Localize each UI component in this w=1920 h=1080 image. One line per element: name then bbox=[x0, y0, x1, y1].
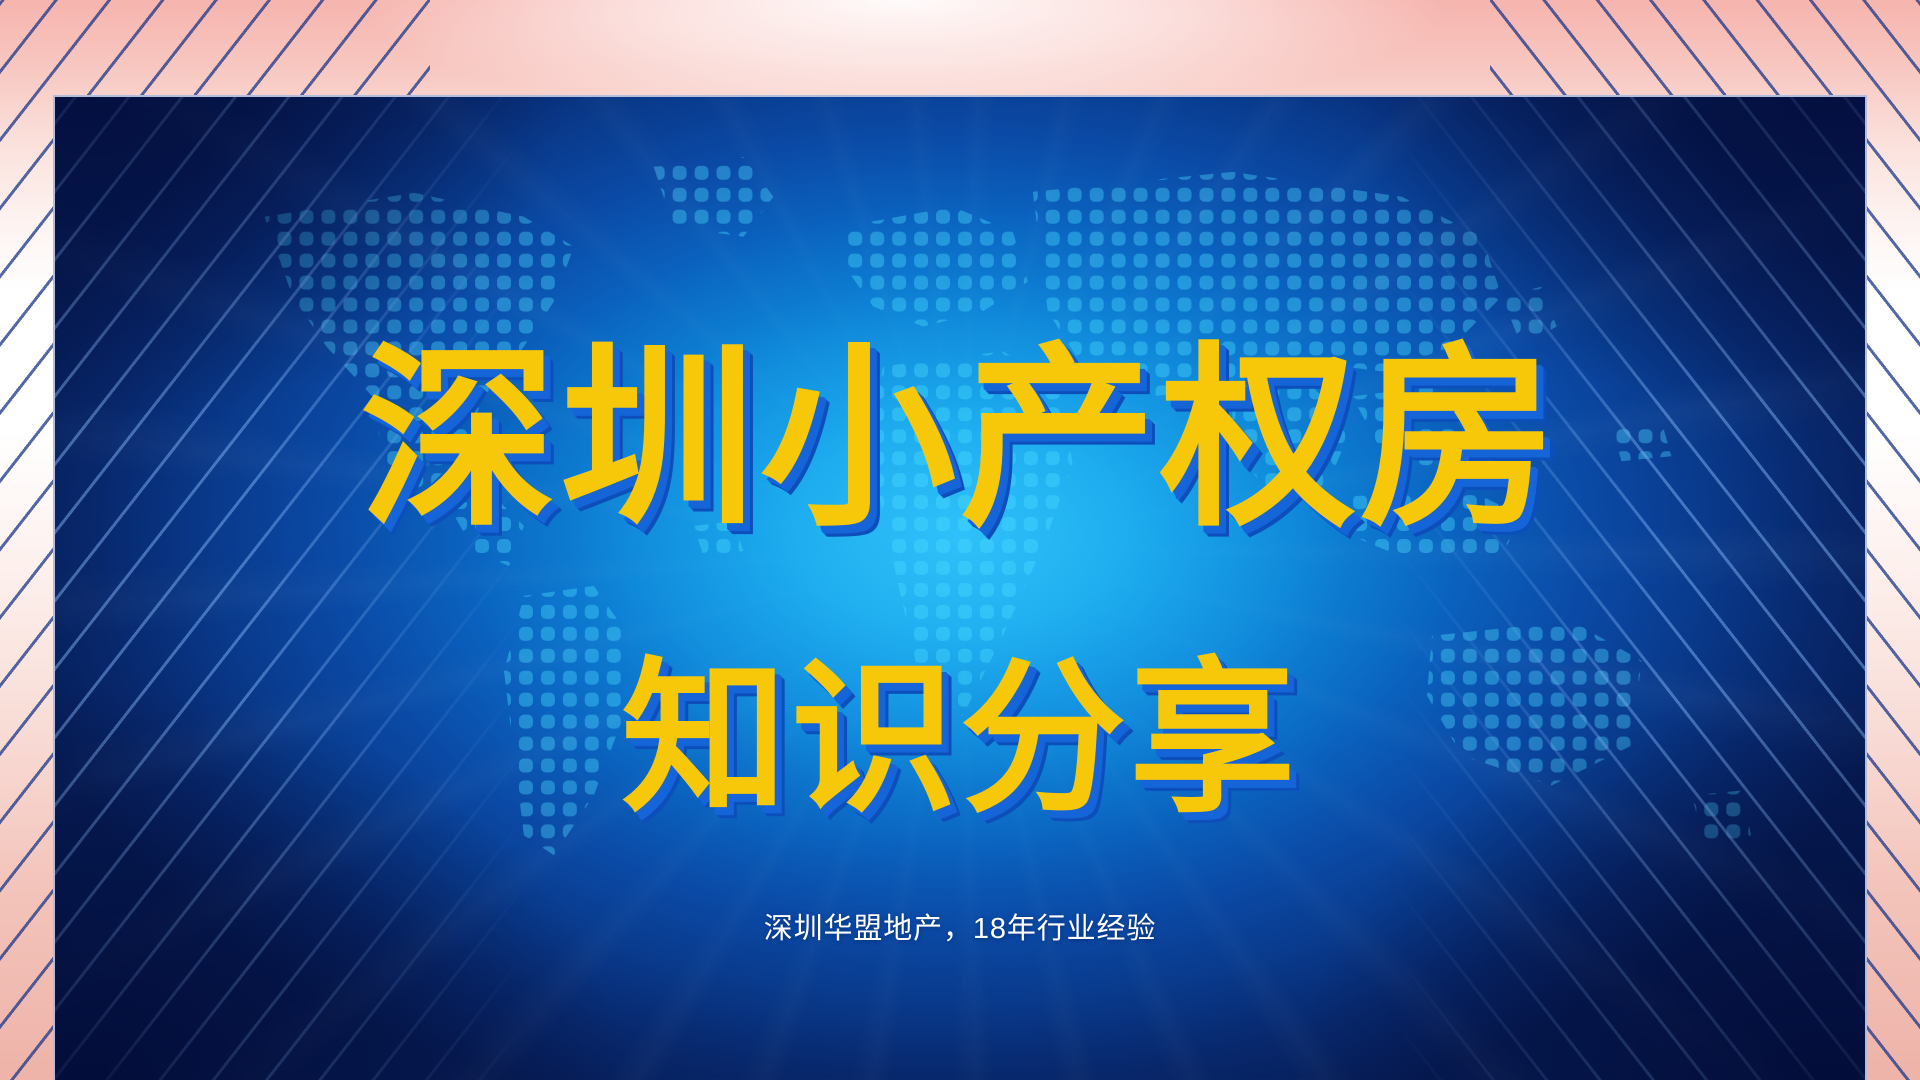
slide-panel: 深圳小产权房 知识分享 深圳华盟地产，18年行业经验 bbox=[53, 95, 1867, 1080]
subtitle: 深圳华盟地产，18年行业经验 bbox=[55, 905, 1865, 947]
slide-content: 深圳小产权房 知识分享 深圳华盟地产，18年行业经验 bbox=[55, 97, 1865, 1080]
presentation-slide: 深圳小产权房 知识分享 深圳华盟地产，18年行业经验 bbox=[0, 0, 1920, 1080]
title-line-1: 深圳小产权房 bbox=[55, 342, 1865, 538]
title-line-2: 知识分享 bbox=[55, 657, 1865, 823]
